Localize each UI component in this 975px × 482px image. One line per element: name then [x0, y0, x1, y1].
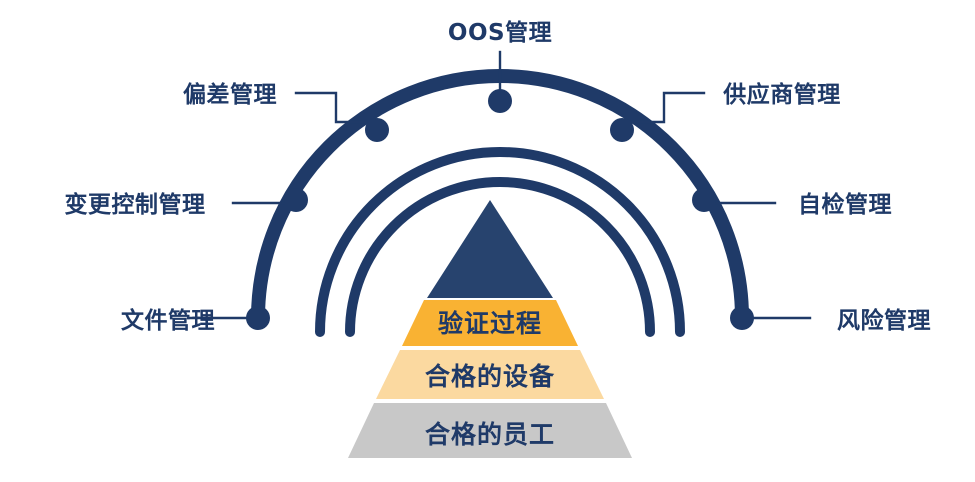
pyramid-apex[interactable]: [427, 200, 553, 298]
arc-node-risk-management[interactable]: [730, 306, 754, 330]
arch-label-risk-management[interactable]: 风险管理: [837, 307, 931, 334]
arch-label-self-inspection-management[interactable]: 自检管理: [798, 191, 892, 218]
pyramid-tier-label-validation-process: 验证过程: [438, 309, 542, 338]
arc-node-change-control-management[interactable]: [284, 188, 308, 212]
pyramid-group: 验证过程 合格的设备 合格的员工: [348, 200, 632, 458]
arch-label-supplier-management[interactable]: 供应商管理: [722, 81, 841, 108]
arch-pyramid-diagram: 验证过程 合格的设备 合格的员工 文件管理 变更控制管理 偏差管理 OOS管理 …: [0, 0, 975, 482]
arch-label-change-control-management[interactable]: 变更控制管理: [65, 191, 206, 218]
arc-node-self-inspection-management[interactable]: [692, 188, 716, 212]
arch-label-document-management[interactable]: 文件管理: [121, 307, 215, 334]
pyramid-tier-label-qualified-staff: 合格的员工: [425, 420, 555, 449]
diagram-root: 验证过程 合格的设备 合格的员工 文件管理 变更控制管理 偏差管理 OOS管理 …: [0, 0, 975, 482]
arc-node-deviation-management[interactable]: [365, 118, 389, 142]
arc-node-document-management[interactable]: [246, 306, 270, 330]
arch-label-oos-management[interactable]: OOS管理: [448, 19, 552, 46]
arch-label-deviation-management[interactable]: 偏差管理: [183, 81, 277, 108]
arc-node-oos-management[interactable]: [488, 89, 512, 113]
arc-node-supplier-management[interactable]: [610, 118, 634, 142]
pyramid-tier-label-qualified-equipment: 合格的设备: [425, 362, 555, 391]
